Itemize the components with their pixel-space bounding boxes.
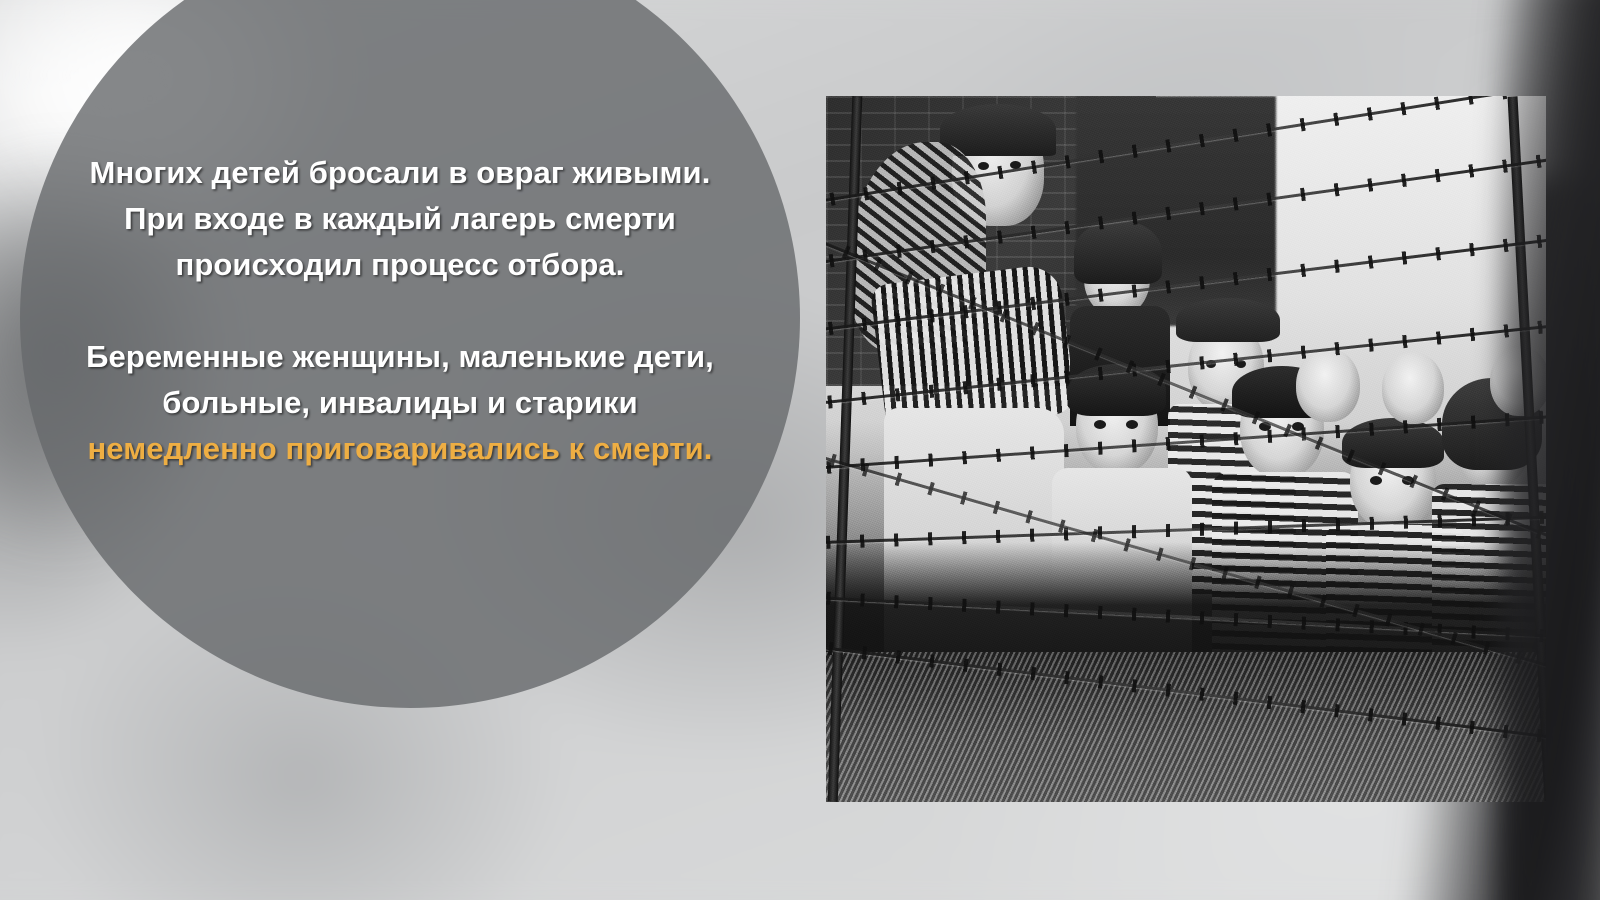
quote-line-accent: немедленно приговаривались к смерти. [42,426,758,472]
quote-line: больные, инвалиды и старики [42,380,758,426]
quote-line: происходил процесс отбора. [42,242,758,288]
photo-canvas [826,96,1546,802]
quote-text-block: Многих детей бросали в овраг живыми. При… [42,150,758,472]
quote-line: Многих детей бросали в овраг живыми. [42,150,758,196]
paragraph-1: Многих детей бросали в овраг живыми. При… [42,150,758,288]
photo-film-grain [826,96,1546,802]
archival-photograph [826,96,1546,802]
paragraph-2: Беременные женщины, маленькие дети, боль… [42,334,758,472]
quote-line: При входе в каждый лагерь смерти [42,196,758,242]
quote-line: Беременные женщины, маленькие дети, [42,334,758,380]
paragraph-spacer [42,288,758,334]
slide-canvas: Многих детей бросали в овраг живыми. При… [0,0,1600,900]
